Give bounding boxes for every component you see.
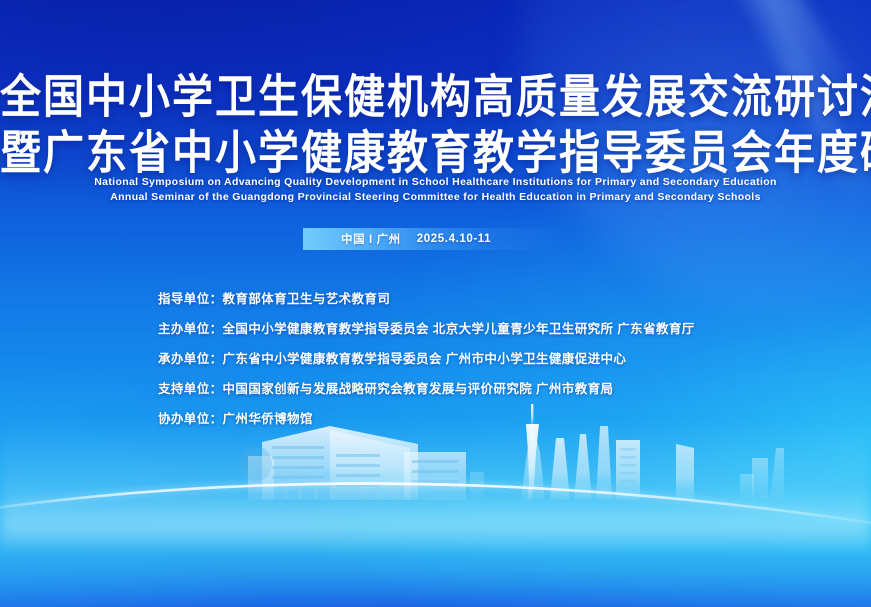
organizer-label: 指导单位： — [158, 288, 223, 307]
conference-poster: 全国中小学卫生保健机构高质量发展交流研讨活动 暨广东省中小学健康教育教学指导委员… — [0, 0, 871, 607]
organizer-row: 承办单位： 广东省中小学健康教育教学指导委员会 广州市中小学卫生健康促进中心 — [158, 348, 695, 367]
subtitle-block: National Symposium on Advancing Quality … — [0, 175, 871, 205]
badge-inner: 中国 I 广州 2025.4.10-11 — [303, 231, 491, 247]
organizer-value: 广州华侨博物馆 — [223, 408, 313, 427]
organizer-row: 支持单位： 中国国家创新与发展战略研究会教育发展与评价研究院 广州市教育局 — [158, 378, 695, 397]
organizer-label: 主办单位： — [158, 318, 223, 337]
organizer-row: 协办单位： 广州华侨博物馆 — [158, 408, 695, 427]
poster-subtitle-line-2: Annual Seminar of the Guangdong Provinci… — [0, 190, 871, 205]
organizer-label: 协办单位： — [158, 408, 223, 427]
title-block: 全国中小学卫生保健机构高质量发展交流研讨活动 暨广东省中小学健康教育教学指导委员… — [0, 72, 871, 178]
organizer-value: 中国国家创新与发展战略研究会教育发展与评价研究院 广州市教育局 — [223, 378, 614, 397]
organizer-value: 广东省中小学健康教育教学指导委员会 广州市中小学卫生健康促进中心 — [223, 348, 627, 367]
poster-title-line-2: 暨广东省中小学健康教育教学指导委员会年度研讨活动 — [0, 125, 871, 181]
badge-date: 2025.4.10-11 — [417, 233, 491, 245]
organizer-value: 教育部体育卫生与艺术教育司 — [223, 288, 391, 307]
organizer-label: 承办单位： — [158, 348, 223, 367]
organizer-row: 主办单位： 全国中小学健康教育教学指导委员会 北京大学儿童青少年卫生研究所 广东… — [158, 318, 695, 337]
organizer-list: 指导单位： 教育部体育卫生与艺术教育司 主办单位： 全国中小学健康教育教学指导委… — [158, 288, 695, 427]
poster-content: 全国中小学卫生保健机构高质量发展交流研讨活动 暨广东省中小学健康教育教学指导委员… — [0, 0, 871, 607]
poster-title-line-1: 全国中小学卫生保健机构高质量发展交流研讨活动 — [0, 69, 871, 125]
location-date-badge: 中国 I 广州 2025.4.10-11 — [303, 228, 562, 250]
organizer-label: 支持单位： — [158, 378, 223, 397]
poster-subtitle-line-1: National Symposium on Advancing Quality … — [0, 175, 871, 190]
badge-location: 中国 I 广州 — [341, 231, 401, 247]
organizer-row: 指导单位： 教育部体育卫生与艺术教育司 — [158, 288, 695, 307]
organizer-value: 全国中小学健康教育教学指导委员会 北京大学儿童青少年卫生研究所 广东省教育厅 — [223, 318, 695, 337]
